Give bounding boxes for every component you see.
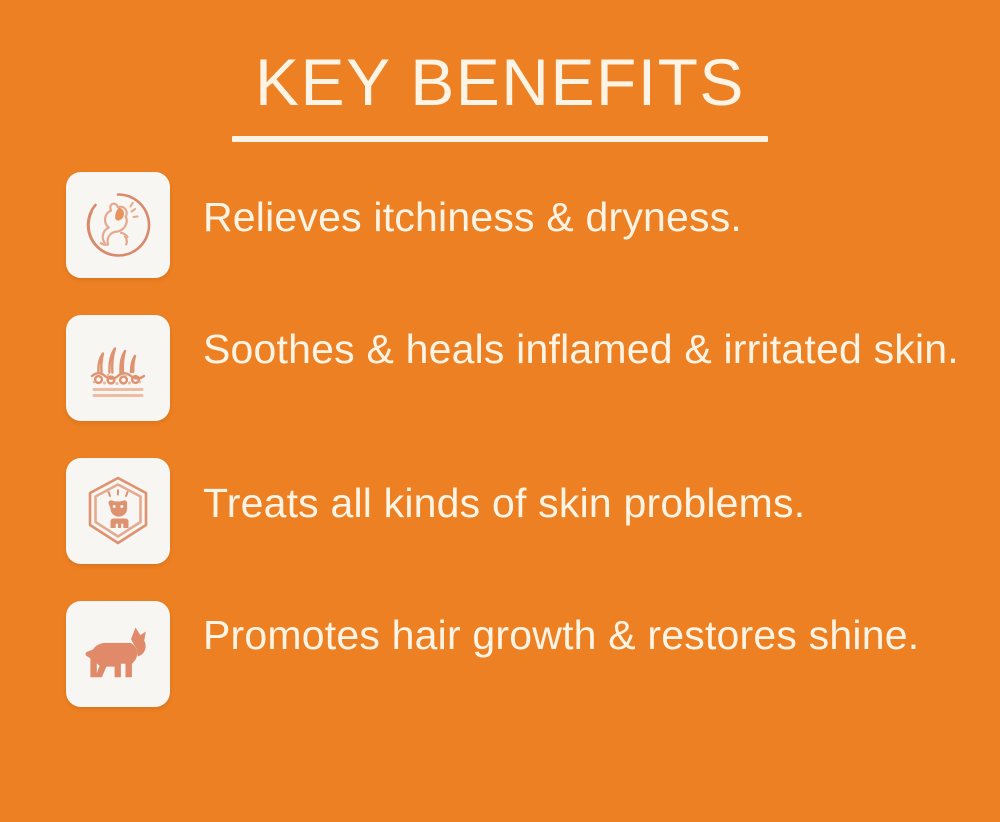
title-underline: [232, 136, 768, 142]
benefit-item: Treats all kinds of skin problems.: [66, 458, 986, 564]
dog-silhouette-icon: [82, 621, 154, 687]
benefit-icon-tile: [66, 315, 170, 421]
benefit-icon-tile: [66, 601, 170, 707]
page-title: KEY BENEFITS: [0, 44, 1000, 120]
benefit-item: Soothes & heals inflamed & irritated ski…: [66, 315, 986, 421]
title-block: KEY BENEFITS: [0, 44, 1000, 142]
benefit-icon-tile: [66, 458, 170, 564]
benefit-text: Treats all kinds of skin problems.: [170, 458, 986, 530]
benefit-text: Soothes & heals inflamed & irritated ski…: [170, 315, 986, 376]
benefit-text: Relieves itchiness & dryness.: [170, 172, 986, 244]
dog-itching-circle-icon: [81, 188, 155, 262]
dog-shield-hexagon-icon: [80, 473, 156, 549]
benefits-list: Relieves itchiness & dryness.: [66, 172, 986, 707]
key-benefits-panel: KEY BENEFITS: [0, 0, 1000, 822]
benefit-icon-tile: [66, 172, 170, 278]
benefit-item: Relieves itchiness & dryness.: [66, 172, 986, 278]
benefit-text: Promotes hair growth & restores shine.: [170, 601, 986, 662]
benefit-item: Promotes hair growth & restores shine.: [66, 601, 986, 707]
skin-layer-follicles-icon: [81, 331, 155, 405]
